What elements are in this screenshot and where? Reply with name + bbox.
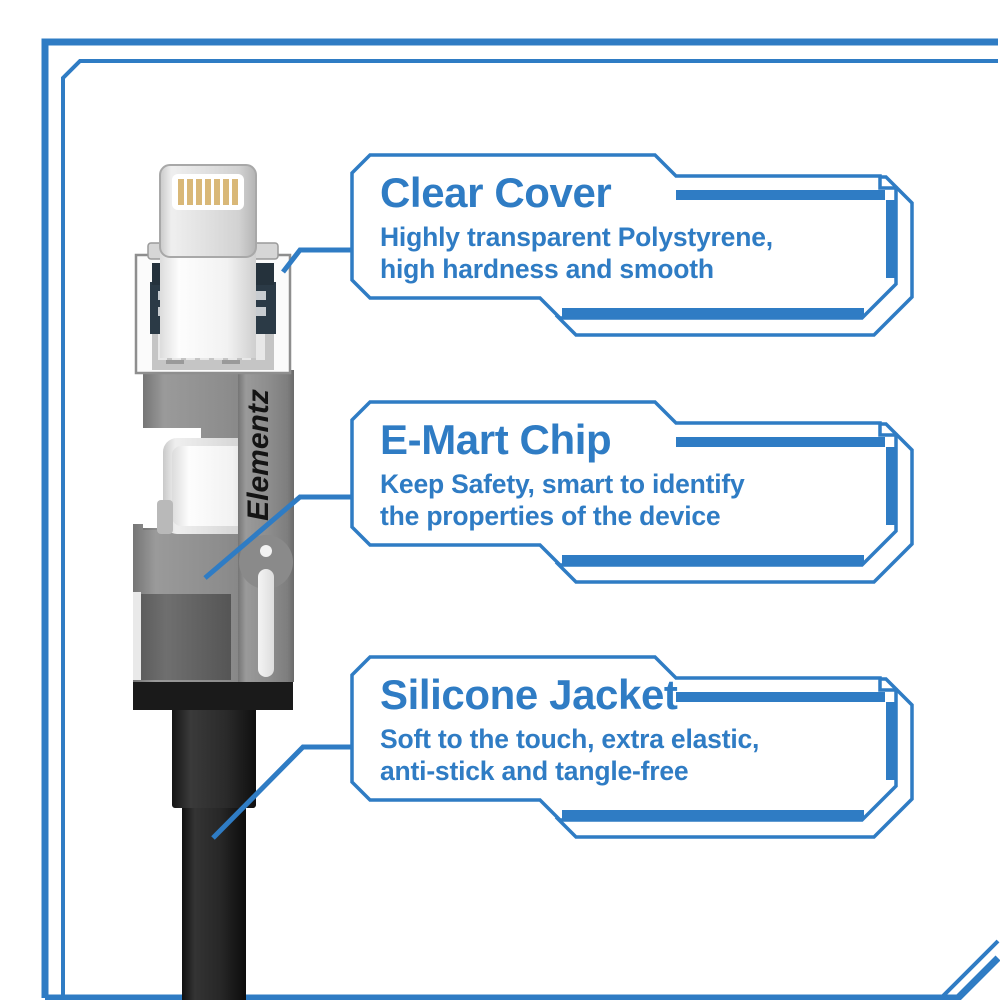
callout-right-bar-3 — [886, 702, 896, 780]
callout-bottom-bar-3 — [562, 810, 864, 820]
infographic-canvas: Elementz Mi?2340 — [0, 0, 1000, 1000]
callout-outline-3 — [352, 657, 896, 820]
callout-top-bar-3 — [676, 692, 885, 702]
callout-box-silicone-jacket[interactable] — [0, 0, 1000, 1000]
